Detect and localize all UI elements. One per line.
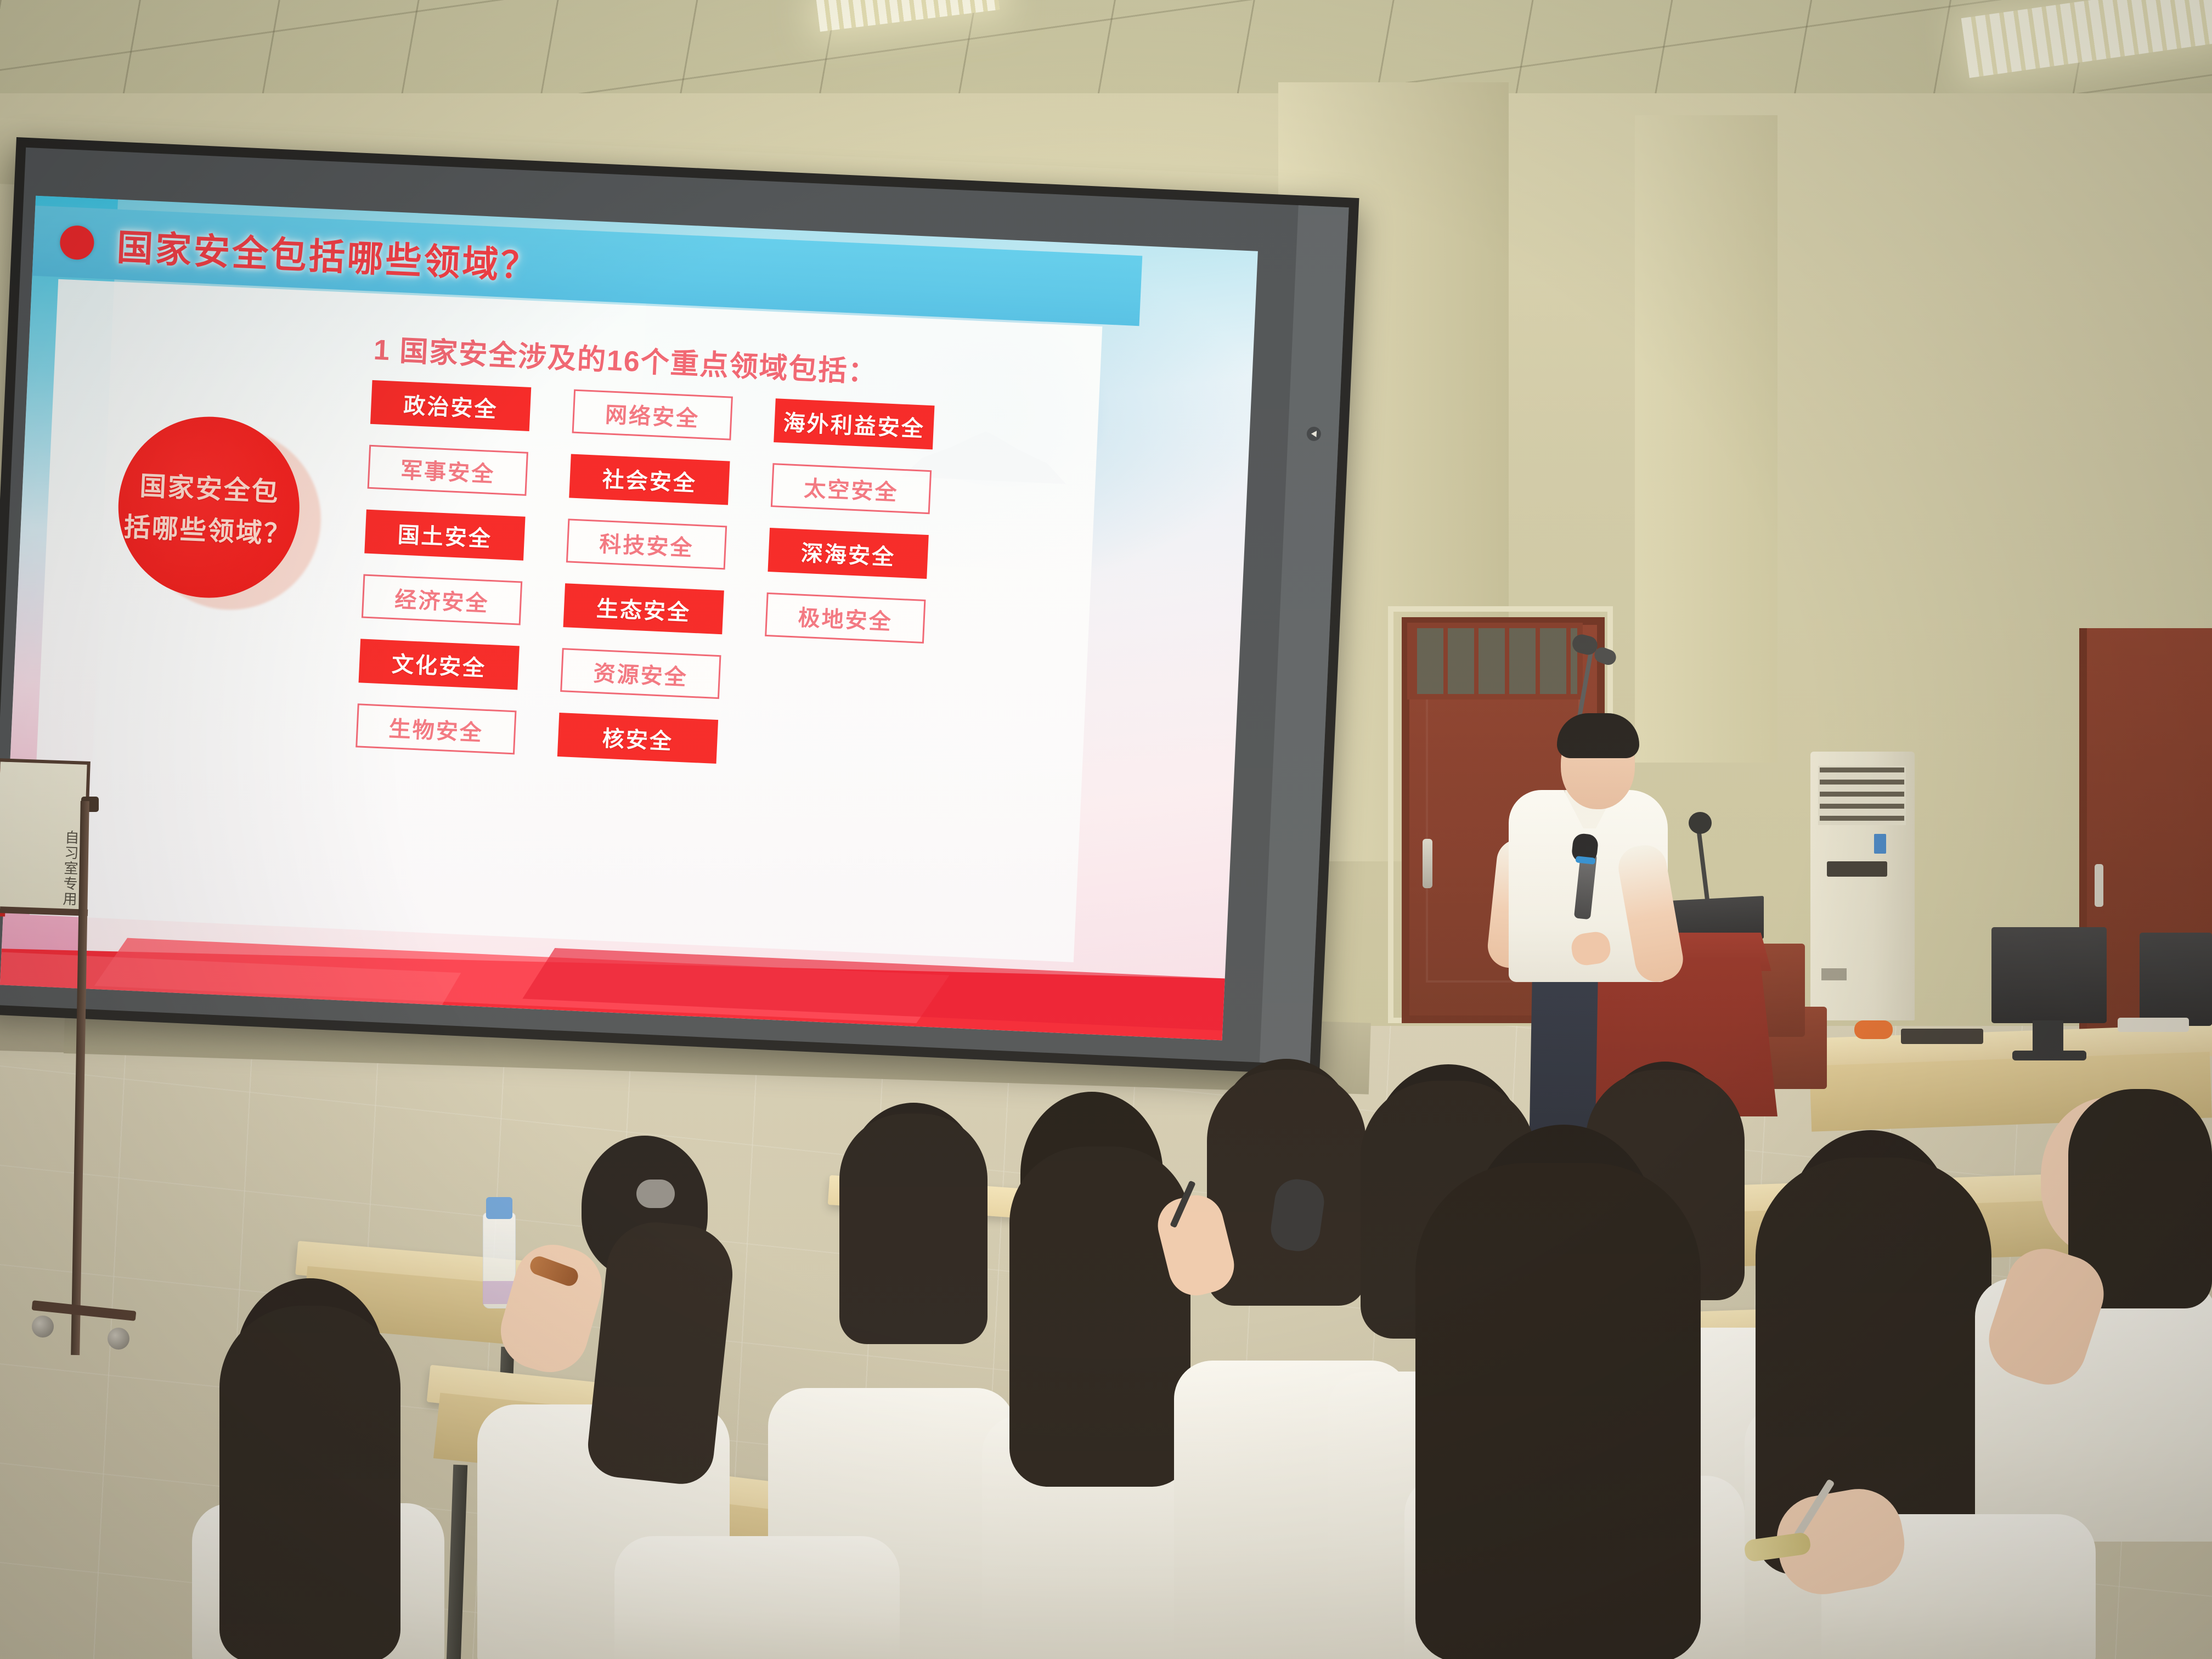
ac-sticker <box>1874 834 1886 854</box>
ac-brand-logo <box>1821 968 1847 980</box>
student-hair <box>1009 1147 1190 1487</box>
floor-air-conditioner[interactable] <box>1810 752 1915 1020</box>
domain-cell[interactable]: 深海安全 <box>768 528 928 579</box>
bottle-cap <box>486 1197 512 1219</box>
domain-cell[interactable]: 太空安全 <box>771 463 932 514</box>
podium-microphone-icon <box>1689 812 1712 834</box>
student-body <box>614 1536 900 1659</box>
domain-cell-empty <box>759 722 919 773</box>
domain-cell[interactable]: 经济安全 <box>362 574 522 625</box>
circle-text-line-1: 国家安全包 <box>139 464 281 509</box>
hair-clip-icon <box>636 1180 675 1208</box>
monitor-stand <box>2033 1020 2063 1053</box>
whiteboard-easel-board[interactable]: 自习室专用 <box>0 758 91 915</box>
door-handle[interactable] <box>1423 839 1432 888</box>
slide-content-card: 国家安全包 括哪些领域？ 1 国家安全涉及的16个重点领域包括： 政治安全网络安… <box>30 279 1103 962</box>
domain-cell[interactable]: 网络安全 <box>572 390 733 441</box>
domain-cell[interactable]: 极地安全 <box>765 592 926 644</box>
computer-monitor[interactable] <box>2140 933 2212 1026</box>
domain-cell[interactable]: 文化安全 <box>359 639 520 690</box>
door-handle[interactable] <box>2095 864 2103 907</box>
domain-cell[interactable]: 海外利益安全 <box>774 398 934 449</box>
ac-vent-louvers <box>1818 766 1906 825</box>
circle-text-line-2: 括哪些领域？ <box>123 505 293 551</box>
slide-title: 国家安全包括哪些领域？ <box>116 218 540 290</box>
wall-pillar <box>1635 115 1778 763</box>
domain-cell[interactable]: 社会安全 <box>569 454 730 505</box>
domain-cell[interactable]: 生物安全 <box>356 703 516 754</box>
student-hair <box>585 1217 737 1487</box>
content-heading: 1 国家安全涉及的16个重点领域包括： <box>373 326 879 391</box>
domain-cell[interactable]: 资源安全 <box>560 648 721 699</box>
domain-cell-empty <box>762 657 923 708</box>
domain-cell[interactable]: 政治安全 <box>370 380 531 431</box>
desk-cables <box>1901 1029 1983 1044</box>
classroom-photo: 国家安全包括哪些领域？ 国家安全包 括哪些领域？ 1 国家安全涉及的16个重点领… <box>0 0 2212 1659</box>
ac-display-panel[interactable] <box>1827 861 1887 877</box>
domain-cell[interactable]: 科技安全 <box>566 518 727 569</box>
door-window <box>1407 623 1583 699</box>
easel-caster-wheel <box>108 1328 129 1350</box>
student-hair <box>219 1306 400 1659</box>
monitor-base <box>2012 1051 2086 1060</box>
door-window-grill <box>1413 628 1577 694</box>
domain-cell[interactable]: 生态安全 <box>563 583 724 634</box>
security-domains-grid: 政治安全网络安全海外利益安全军事安全社会安全太空安全国土安全科技安全深海安全经济… <box>356 380 1041 778</box>
desk-item-orange[interactable] <box>1854 1020 1893 1039</box>
desk-item-white[interactable] <box>2118 1018 2189 1032</box>
domain-cell[interactable]: 核安全 <box>557 713 718 764</box>
easel-caster-wheel <box>32 1316 54 1338</box>
domain-cell[interactable]: 军事安全 <box>368 445 528 496</box>
easel-handwriting: 自习室专用 <box>53 830 80 907</box>
student-hair <box>839 1114 988 1344</box>
red-bullet-icon <box>59 225 95 261</box>
domain-cell[interactable]: 国土安全 <box>364 510 525 561</box>
projection-screen-panel[interactable]: 国家安全包括哪些领域？ 国家安全包 括哪些领域？ 1 国家安全涉及的16个重点领… <box>0 137 1359 1075</box>
student-hair <box>1415 1163 1701 1659</box>
presentation-slide: 国家安全包括哪些领域？ 国家安全包 括哪些领域？ 1 国家安全涉及的16个重点领… <box>0 196 1258 1041</box>
speaker-hair <box>1557 713 1639 758</box>
computer-monitor[interactable] <box>1991 927 2107 1023</box>
